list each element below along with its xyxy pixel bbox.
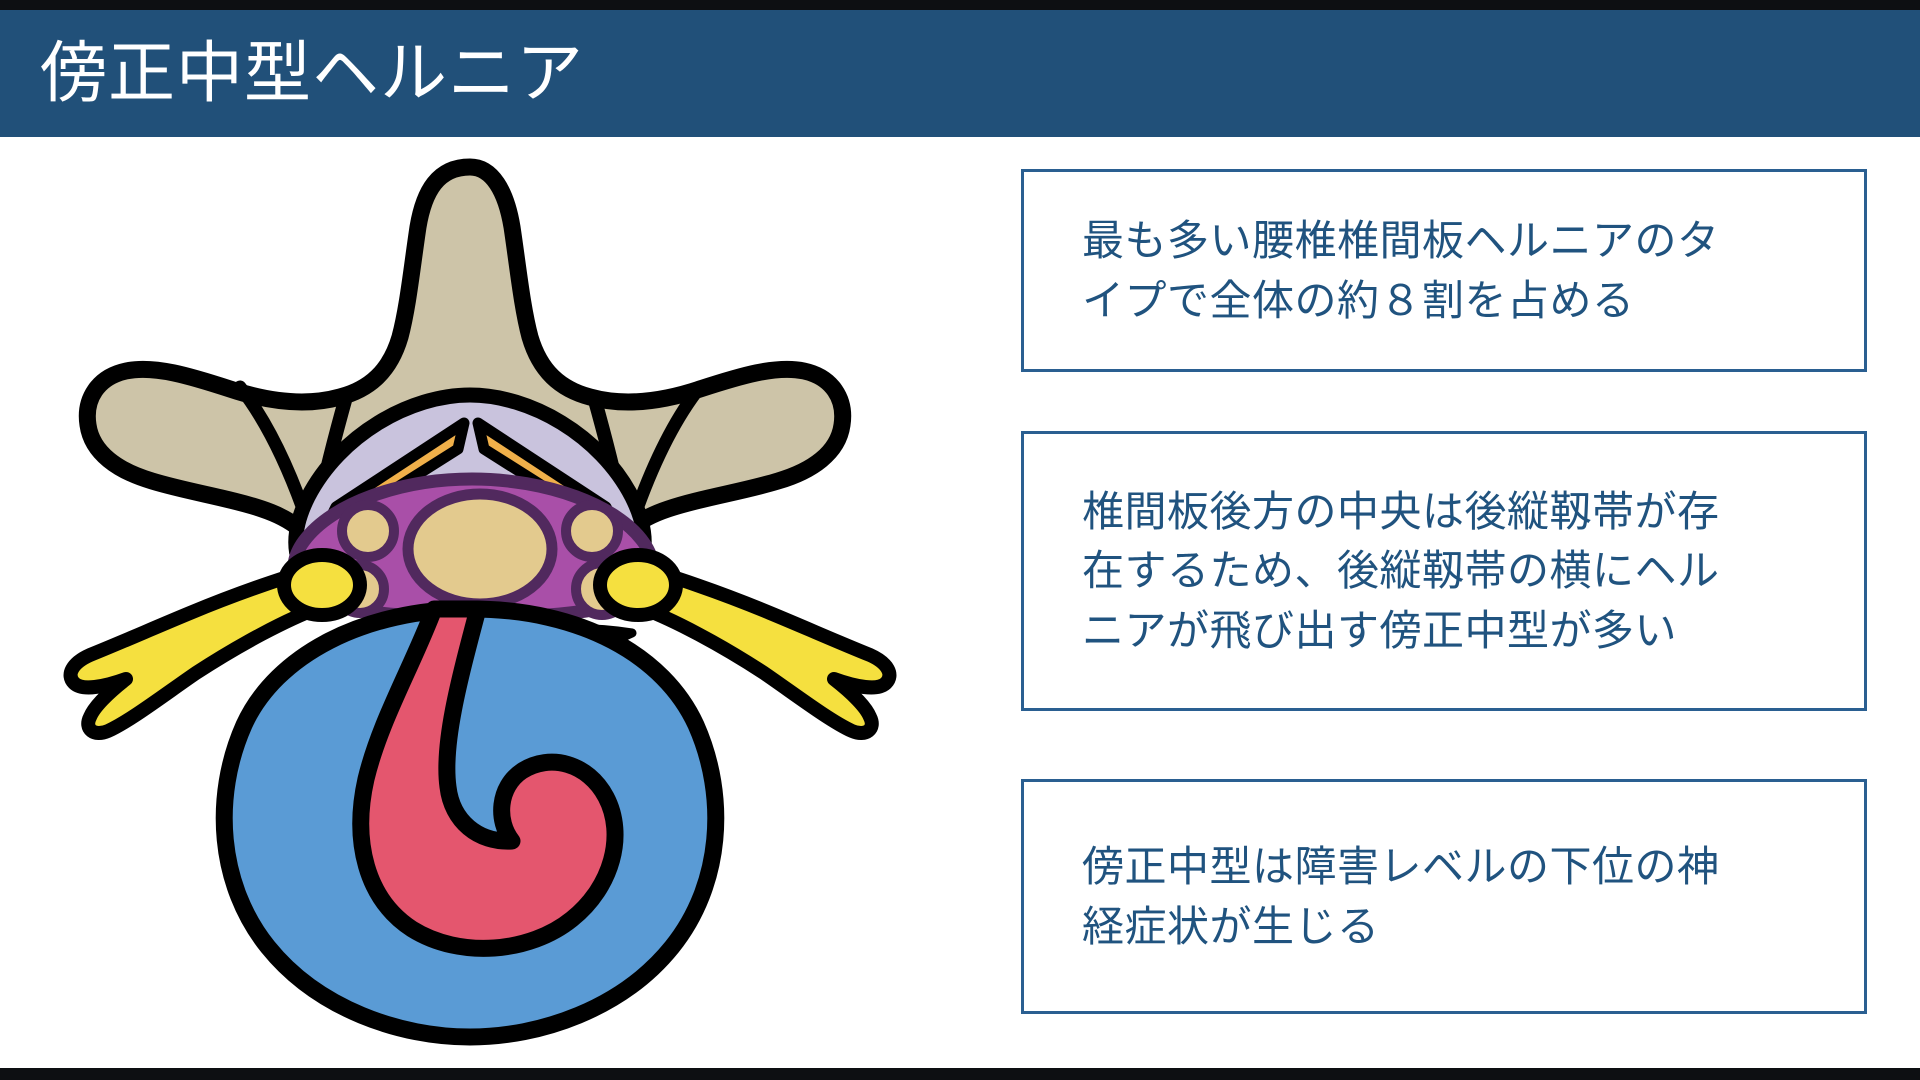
slide-root: 傍正中型ヘルニア: [0, 0, 1920, 1080]
note-box-1-text: 最も多い腰椎椎間板ヘルニアのタ イプで全体の約８割を占める: [1024, 211, 1742, 330]
slide-content: 最も多い腰椎椎間板ヘルニアのタ イプで全体の約８割を占める 椎間板後方の中央は後…: [0, 137, 1920, 1068]
nerve-root-bundle-1: [342, 505, 394, 557]
nerve-root-bundle-3: [566, 505, 618, 557]
cauda-equina-group: [336, 494, 628, 615]
page-title: 傍正中型ヘルニア: [40, 40, 584, 107]
cauda-equina-central: [408, 494, 552, 604]
note-box-1: 最も多い腰椎椎間板ヘルニアのタ イプで全体の約８割を占める: [1021, 169, 1867, 372]
nerve-root-ganglion-left: [284, 555, 360, 615]
title-bar: 傍正中型ヘルニア: [0, 10, 1920, 137]
nerve-root-ganglion-right: [600, 555, 676, 615]
note-box-2: 椎間板後方の中央は後縦靱帯が存 在するため、後縦靱帯の横にヘル ニアが飛び出す傍…: [1021, 431, 1867, 711]
top-edge-strip: [0, 0, 1920, 10]
vertebra-diagram-svg: [60, 157, 900, 1047]
note-box-3-text: 傍正中型は障害レベルの下位の神 経症状が生じる: [1024, 837, 1742, 956]
vertebra-cross-section-figure: [60, 157, 900, 1047]
note-box-2-text: 椎間板後方の中央は後縦靱帯が存 在するため、後縦靱帯の横にヘル ニアが飛び出す傍…: [1024, 482, 1742, 661]
note-box-3: 傍正中型は障害レベルの下位の神 経症状が生じる: [1021, 779, 1867, 1014]
bottom-edge-strip: [0, 1068, 1920, 1080]
